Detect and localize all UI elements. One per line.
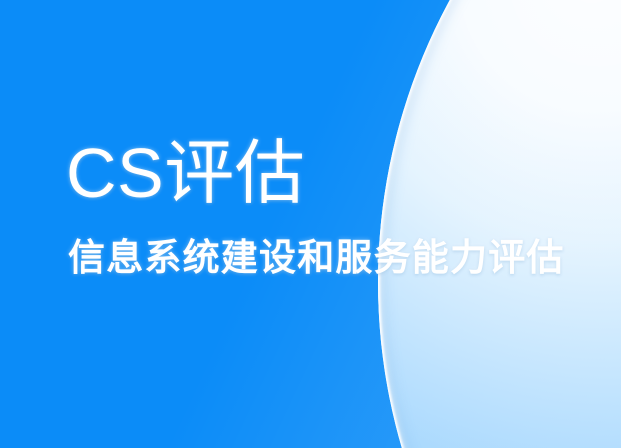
banner-text-block: CS评估 信息系统建设和服务能力评估 — [66, 132, 586, 280]
banner-subtitle: 信息系统建设和服务能力评估 — [68, 236, 586, 280]
cs-assessment-banner: CS评估 信息系统建设和服务能力评估 — [0, 0, 621, 448]
banner-title: CS评估 — [66, 132, 586, 214]
